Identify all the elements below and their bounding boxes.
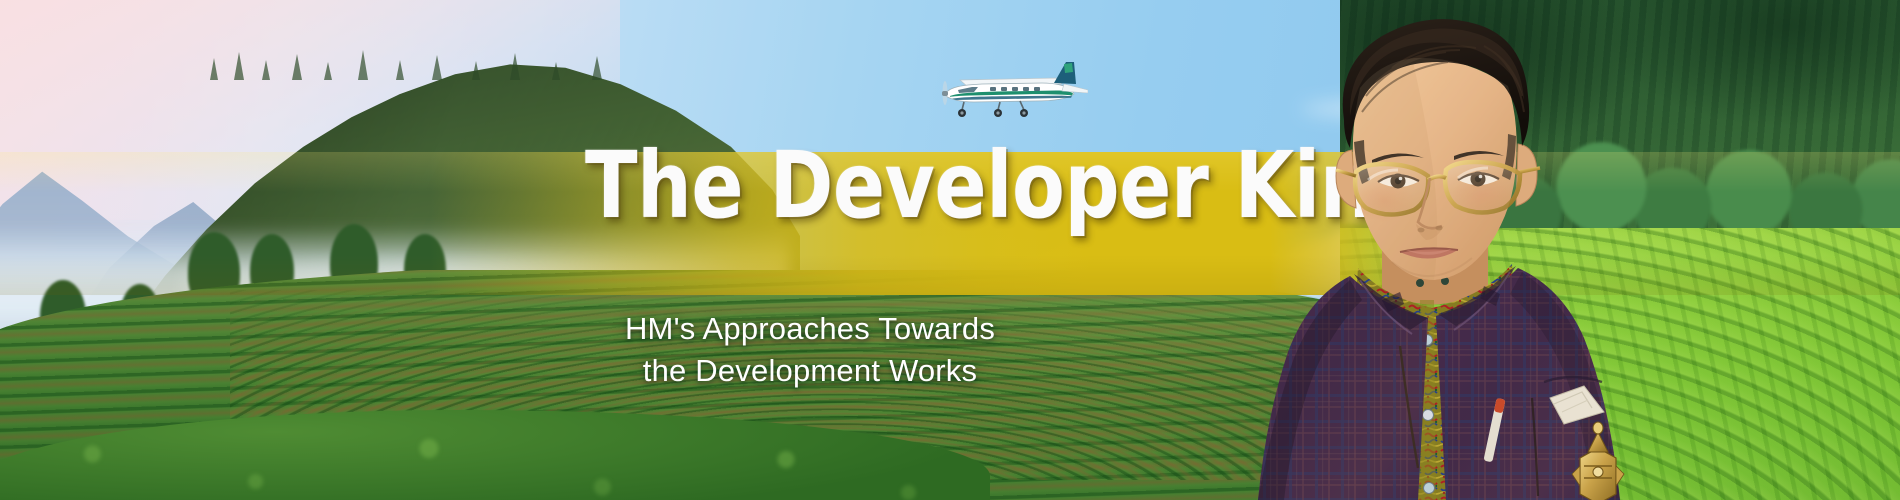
king-bhumibol-portrait [1232,0,1652,500]
ridge-tree-line [200,40,620,80]
airplane-icon [938,60,1088,124]
developer-king-banner: The Developer King HM's Approaches Towar… [0,0,1900,500]
subtitle-line-2: the Development Works [430,350,1190,392]
subtitle-line-1: HM's Approaches Towards [430,308,1190,350]
page-subtitle: HM's Approaches Towards the Development … [430,308,1190,392]
